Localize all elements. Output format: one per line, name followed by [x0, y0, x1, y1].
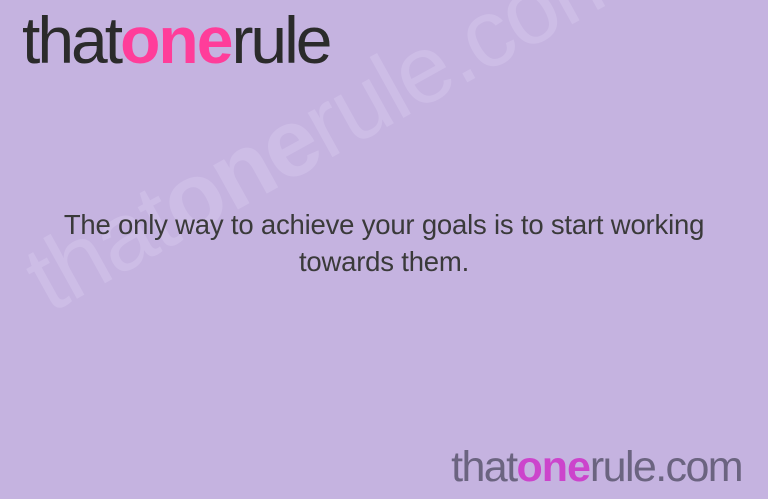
quote-body-text: The only way to achieve your goals is to… — [0, 206, 768, 280]
brand-footer-prefix: that — [451, 443, 516, 491]
brand-footer-suffix: rule.com — [590, 443, 742, 491]
brand-footer-accent: one — [516, 443, 589, 491]
quote-card: thatonerule.com thatonerule The only way… — [0, 0, 768, 499]
brand-header-prefix: that — [22, 3, 120, 77]
brand-header-suffix: rule — [231, 3, 329, 77]
brand-header-logo: thatonerule — [22, 6, 330, 75]
brand-header-accent: one — [120, 3, 231, 77]
brand-footer-logo: thatonerule.com — [451, 444, 742, 491]
watermark-suffix: rule.com — [285, 0, 645, 179]
